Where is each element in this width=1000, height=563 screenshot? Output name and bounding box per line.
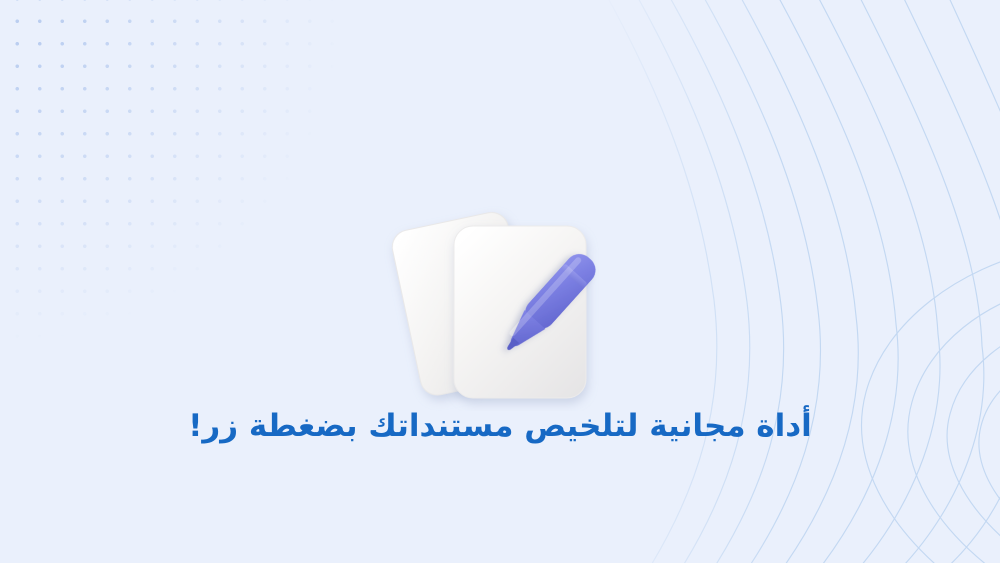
- page-title: أداة مجانية لتلخيص مستنداتك بضغطة زر!: [0, 404, 1000, 448]
- hero-banner: أداة مجانية لتلخيص مستنداتك بضغطة زر!: [0, 0, 1000, 563]
- dot-grid-pattern: [0, 0, 420, 420]
- documents-with-pen-illustration: [378, 196, 628, 411]
- contour-line-group-outer: [598, 0, 1000, 563]
- documents-with-pen-3d-icon: [378, 196, 628, 411]
